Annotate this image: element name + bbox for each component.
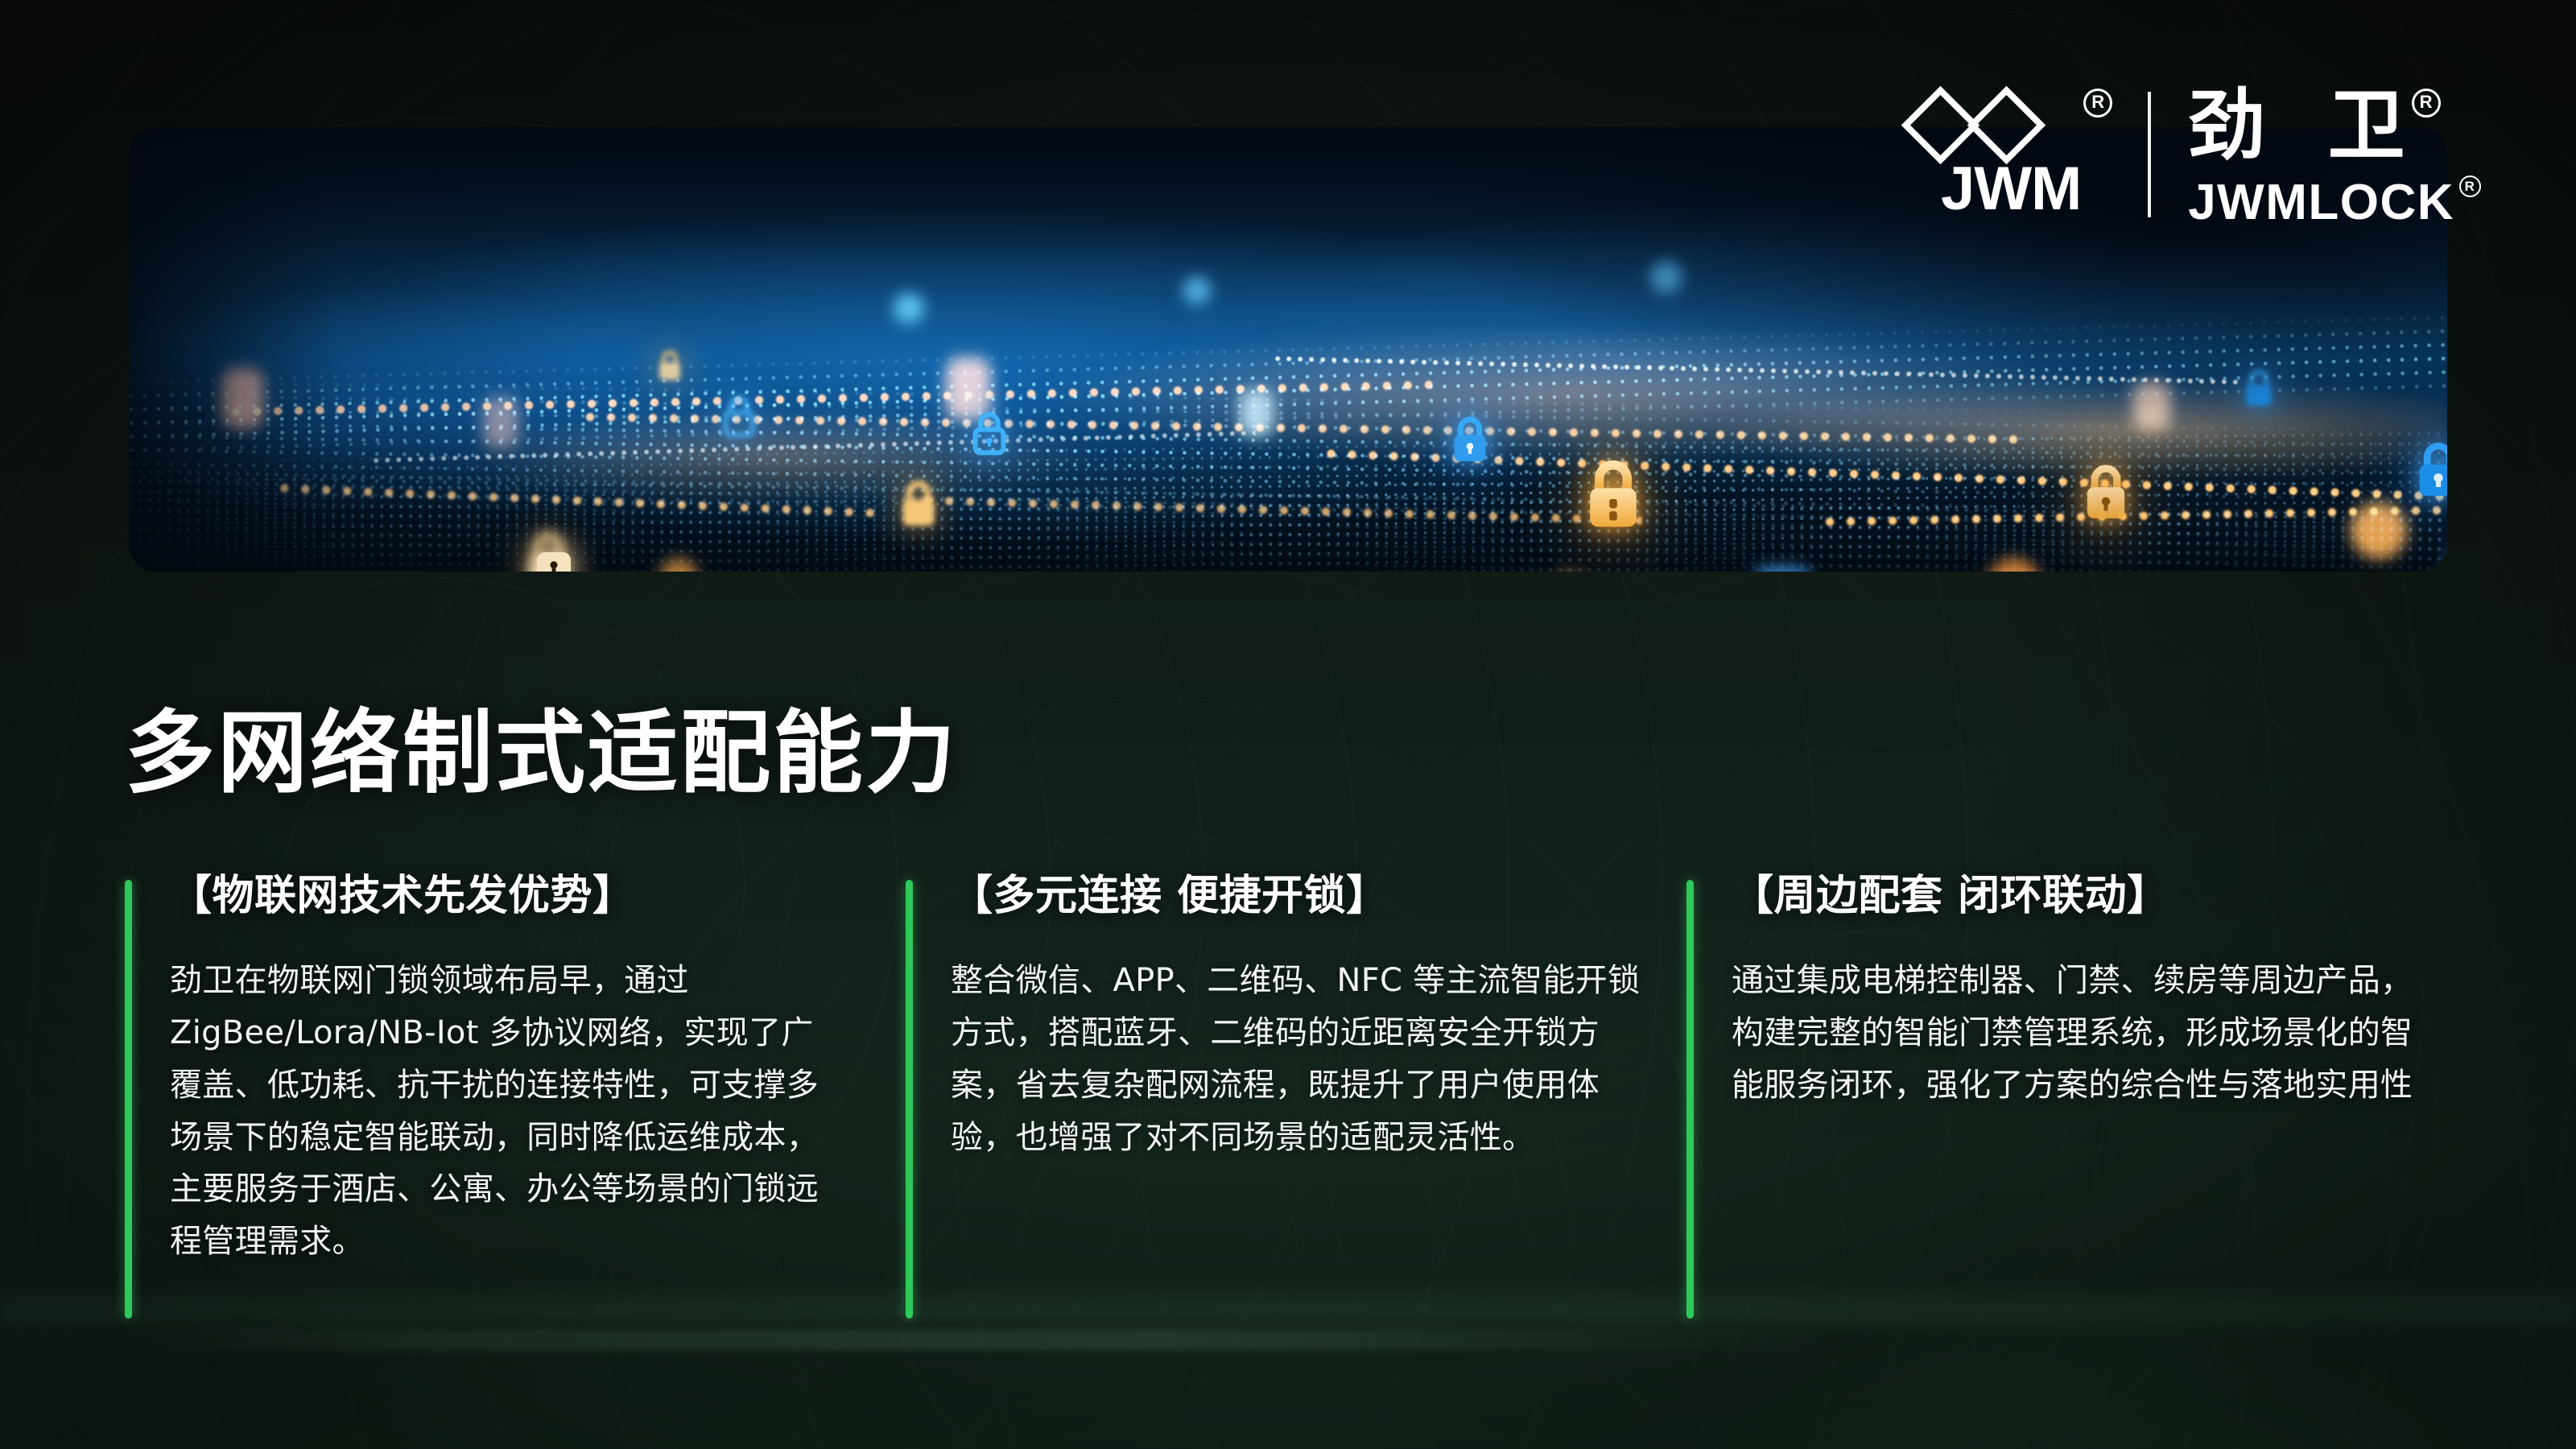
diamond-pair-icon (1909, 87, 2080, 164)
logo-cn-group: 劲 卫 R JWMLOCK R (2151, 87, 2481, 231)
logo-jwmlock-wordmark: JWMLOCK R (2188, 174, 2481, 231)
feature-body: 劲卫在物联网门锁领域布局早，通过 ZigBee/Lora/NB-Iot 多协议网… (170, 955, 838, 1268)
logo-jwm-wordmark: JWM (1941, 161, 2081, 217)
background-light-streak (0, 1280, 2576, 1336)
background-light-streak-secondary (97, 1330, 1851, 1351)
logo-divider (2148, 92, 2151, 217)
registered-icon: R (2083, 89, 2112, 118)
feature-title: 【物联网技术先发优势】 (170, 873, 906, 919)
feature-column-1: 【物联网技术先发优势】 劲卫在物联网门锁领域布局早，通过 ZigBee/Lora… (125, 873, 906, 1268)
logo-jwm-group: R JWM (1909, 87, 2148, 217)
accent-bar (125, 880, 132, 1319)
registered-glyph: R (2091, 93, 2104, 111)
brand-logo: R JWM 劲 卫 R JWMLOCK R (1909, 87, 2481, 231)
feature-columns: 【物联网技术先发优势】 劲卫在物联网门锁领域布局早，通过 ZigBee/Lora… (125, 873, 2467, 1268)
registered-icon: R (2412, 89, 2441, 118)
feature-title: 【多元连接 便捷开锁】 (951, 873, 1686, 919)
registered-glyph: R (2465, 179, 2476, 195)
registered-icon: R (2459, 175, 2481, 197)
slide-root: R JWM 劲 卫 R JWMLOCK R 多网络制式适配能力 【物联网技术先发… (0, 0, 2576, 1449)
accent-bar (1686, 880, 1694, 1319)
logo-diamond-mark-row: R (1909, 87, 2112, 164)
feature-title: 【周边配套 闭环联动】 (1732, 873, 2467, 919)
accent-bar (906, 880, 913, 1319)
logo-cn-wordmark: 劲 卫 (2188, 87, 2422, 164)
feature-column-3: 【周边配套 闭环联动】 通过集成电梯控制器、门禁、续房等周边产品，构建完整的智能… (1686, 873, 2467, 1268)
feature-column-2: 【多元连接 便捷开锁】 整合微信、APP、二维码、NFC 等主流智能开锁方式，搭… (906, 873, 1686, 1268)
registered-glyph: R (2420, 93, 2433, 111)
feature-body: 通过集成电梯控制器、门禁、续房等周边产品，构建完整的智能门禁管理系统，形成场景化… (1732, 955, 2440, 1111)
page-title: 多网络制式适配能力 (125, 680, 958, 811)
logo-jwmlock-text: JWMLOCK (2188, 174, 2454, 231)
feature-body: 整合微信、APP、二维码、NFC 等主流智能开锁方式，搭配蓝牙、二维码的近距离安… (951, 955, 1643, 1163)
logo-cn-row: 劲 卫 R (2188, 87, 2481, 164)
